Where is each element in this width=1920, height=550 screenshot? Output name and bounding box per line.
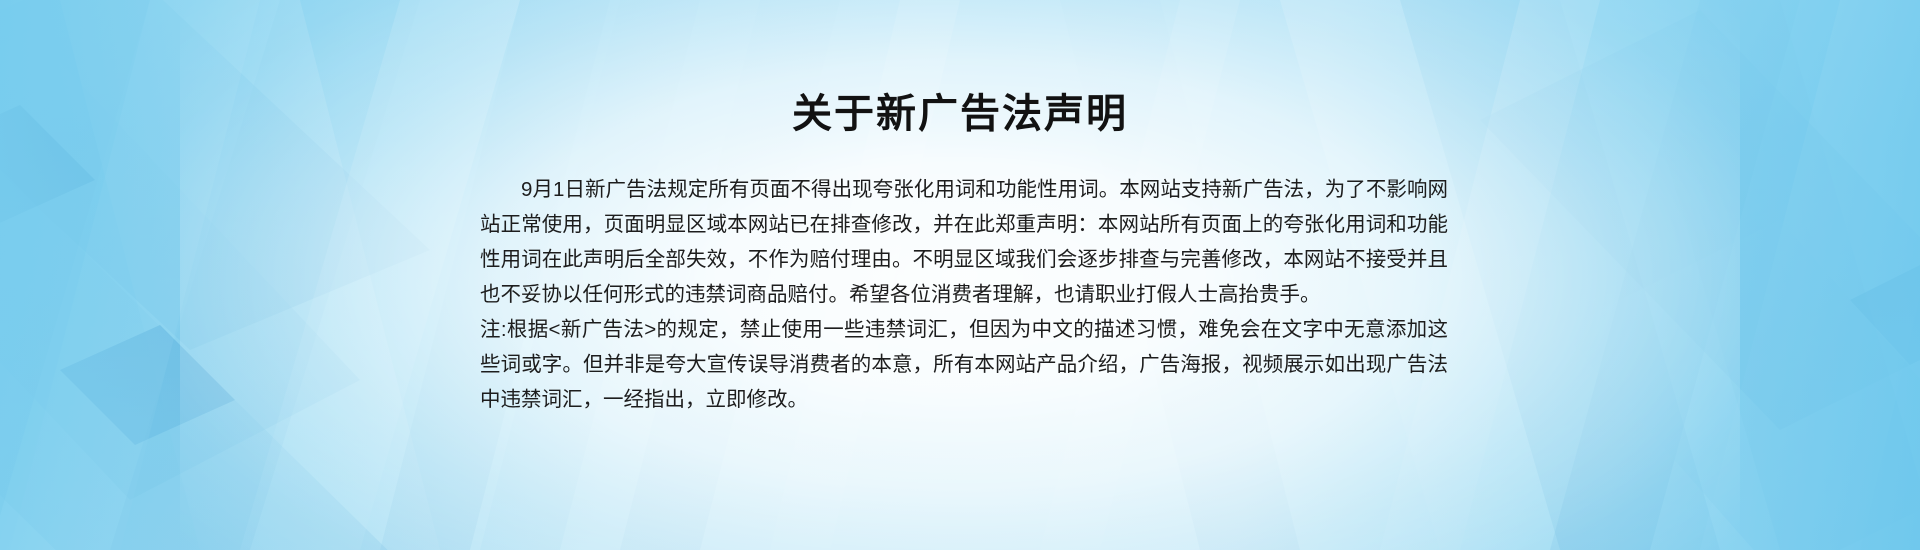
advertising-law-statement-banner: 关于新广告法声明 9月1日新广告法规定所有页面不得出现夸张化用词和功能性用词。本… bbox=[0, 0, 1920, 550]
statement-body: 9月1日新广告法规定所有页面不得出现夸张化用词和功能性用词。本网站支持新广告法，… bbox=[480, 172, 1448, 417]
statement-content: 关于新广告法声明 9月1日新广告法规定所有页面不得出现夸张化用词和功能性用词。本… bbox=[0, 0, 1920, 550]
page-title: 关于新广告法声明 bbox=[0, 88, 1920, 140]
statement-paragraph-note: 注:根据<新广告法>的规定，禁止使用一些违禁词汇，但因为中文的描述习惯，难免会在… bbox=[480, 312, 1448, 417]
statement-paragraph-main: 9月1日新广告法规定所有页面不得出现夸张化用词和功能性用词。本网站支持新广告法，… bbox=[480, 172, 1448, 312]
